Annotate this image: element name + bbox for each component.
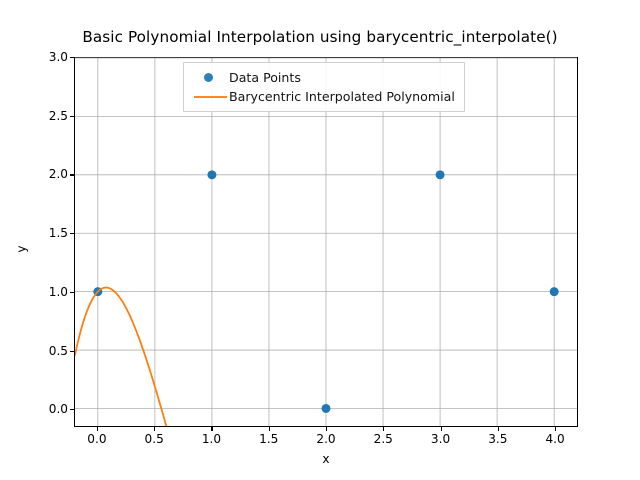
x-tick-mark [555, 427, 556, 431]
y-tick-mark [70, 409, 74, 410]
x-tick-mark [326, 427, 327, 431]
x-tick-mark [269, 427, 270, 431]
legend-label: Barycentric Interpolated Polynomial [229, 89, 455, 104]
x-tick-label: 0.5 [145, 432, 164, 446]
x-tick-mark [498, 427, 499, 431]
data-point [436, 170, 445, 179]
x-tick-label: 3.5 [488, 432, 507, 446]
chart-title: Basic Polynomial Interpolation using bar… [0, 28, 640, 46]
x-tick-mark [154, 427, 155, 431]
y-tick-label: 2.5 [49, 109, 68, 123]
y-tick-mark [70, 233, 74, 234]
legend-label: Data Points [229, 70, 301, 85]
y-tick-mark [70, 116, 74, 117]
plot-area [74, 57, 578, 427]
data-point [322, 404, 331, 413]
data-layer [75, 58, 577, 426]
chart-legend: Data Points Barycentric Interpolated Pol… [183, 62, 465, 112]
y-tick-label: 0.0 [49, 402, 68, 416]
x-axis-label: x [74, 452, 578, 466]
x-tick-label: 1.0 [202, 432, 221, 446]
x-tick-mark [441, 427, 442, 431]
x-tick-label: 0.0 [87, 432, 106, 446]
y-tick-label: 3.0 [49, 50, 68, 64]
y-tick-mark [70, 57, 74, 58]
legend-item-interpolated-polynomial: Barycentric Interpolated Polynomial [191, 87, 455, 106]
x-tick-label: 2.5 [374, 432, 393, 446]
y-tick-label: 1.0 [49, 285, 68, 299]
x-tick-mark [211, 427, 212, 431]
data-point [550, 287, 559, 296]
y-tick-mark [70, 292, 74, 293]
x-tick-label: 2.0 [316, 432, 335, 446]
y-tick-mark [70, 351, 74, 352]
data-point [207, 170, 216, 179]
y-tick-label: 1.5 [49, 226, 68, 240]
y-tick-label: 0.5 [49, 344, 68, 358]
x-tick-label: 4.0 [545, 432, 564, 446]
y-tick-mark [70, 174, 74, 175]
y-tick-label: 2.0 [49, 167, 68, 181]
legend-item-data-points: Data Points [191, 68, 455, 87]
x-tick-label: 3.0 [431, 432, 450, 446]
x-tick-label: 1.5 [259, 432, 278, 446]
x-tick-mark [383, 427, 384, 431]
chart-figure: Basic Polynomial Interpolation using bar… [0, 0, 640, 480]
legend-marker-icon [191, 68, 229, 87]
legend-line-icon [191, 87, 229, 106]
y-axis-label: y [15, 245, 29, 252]
x-tick-mark [97, 427, 98, 431]
